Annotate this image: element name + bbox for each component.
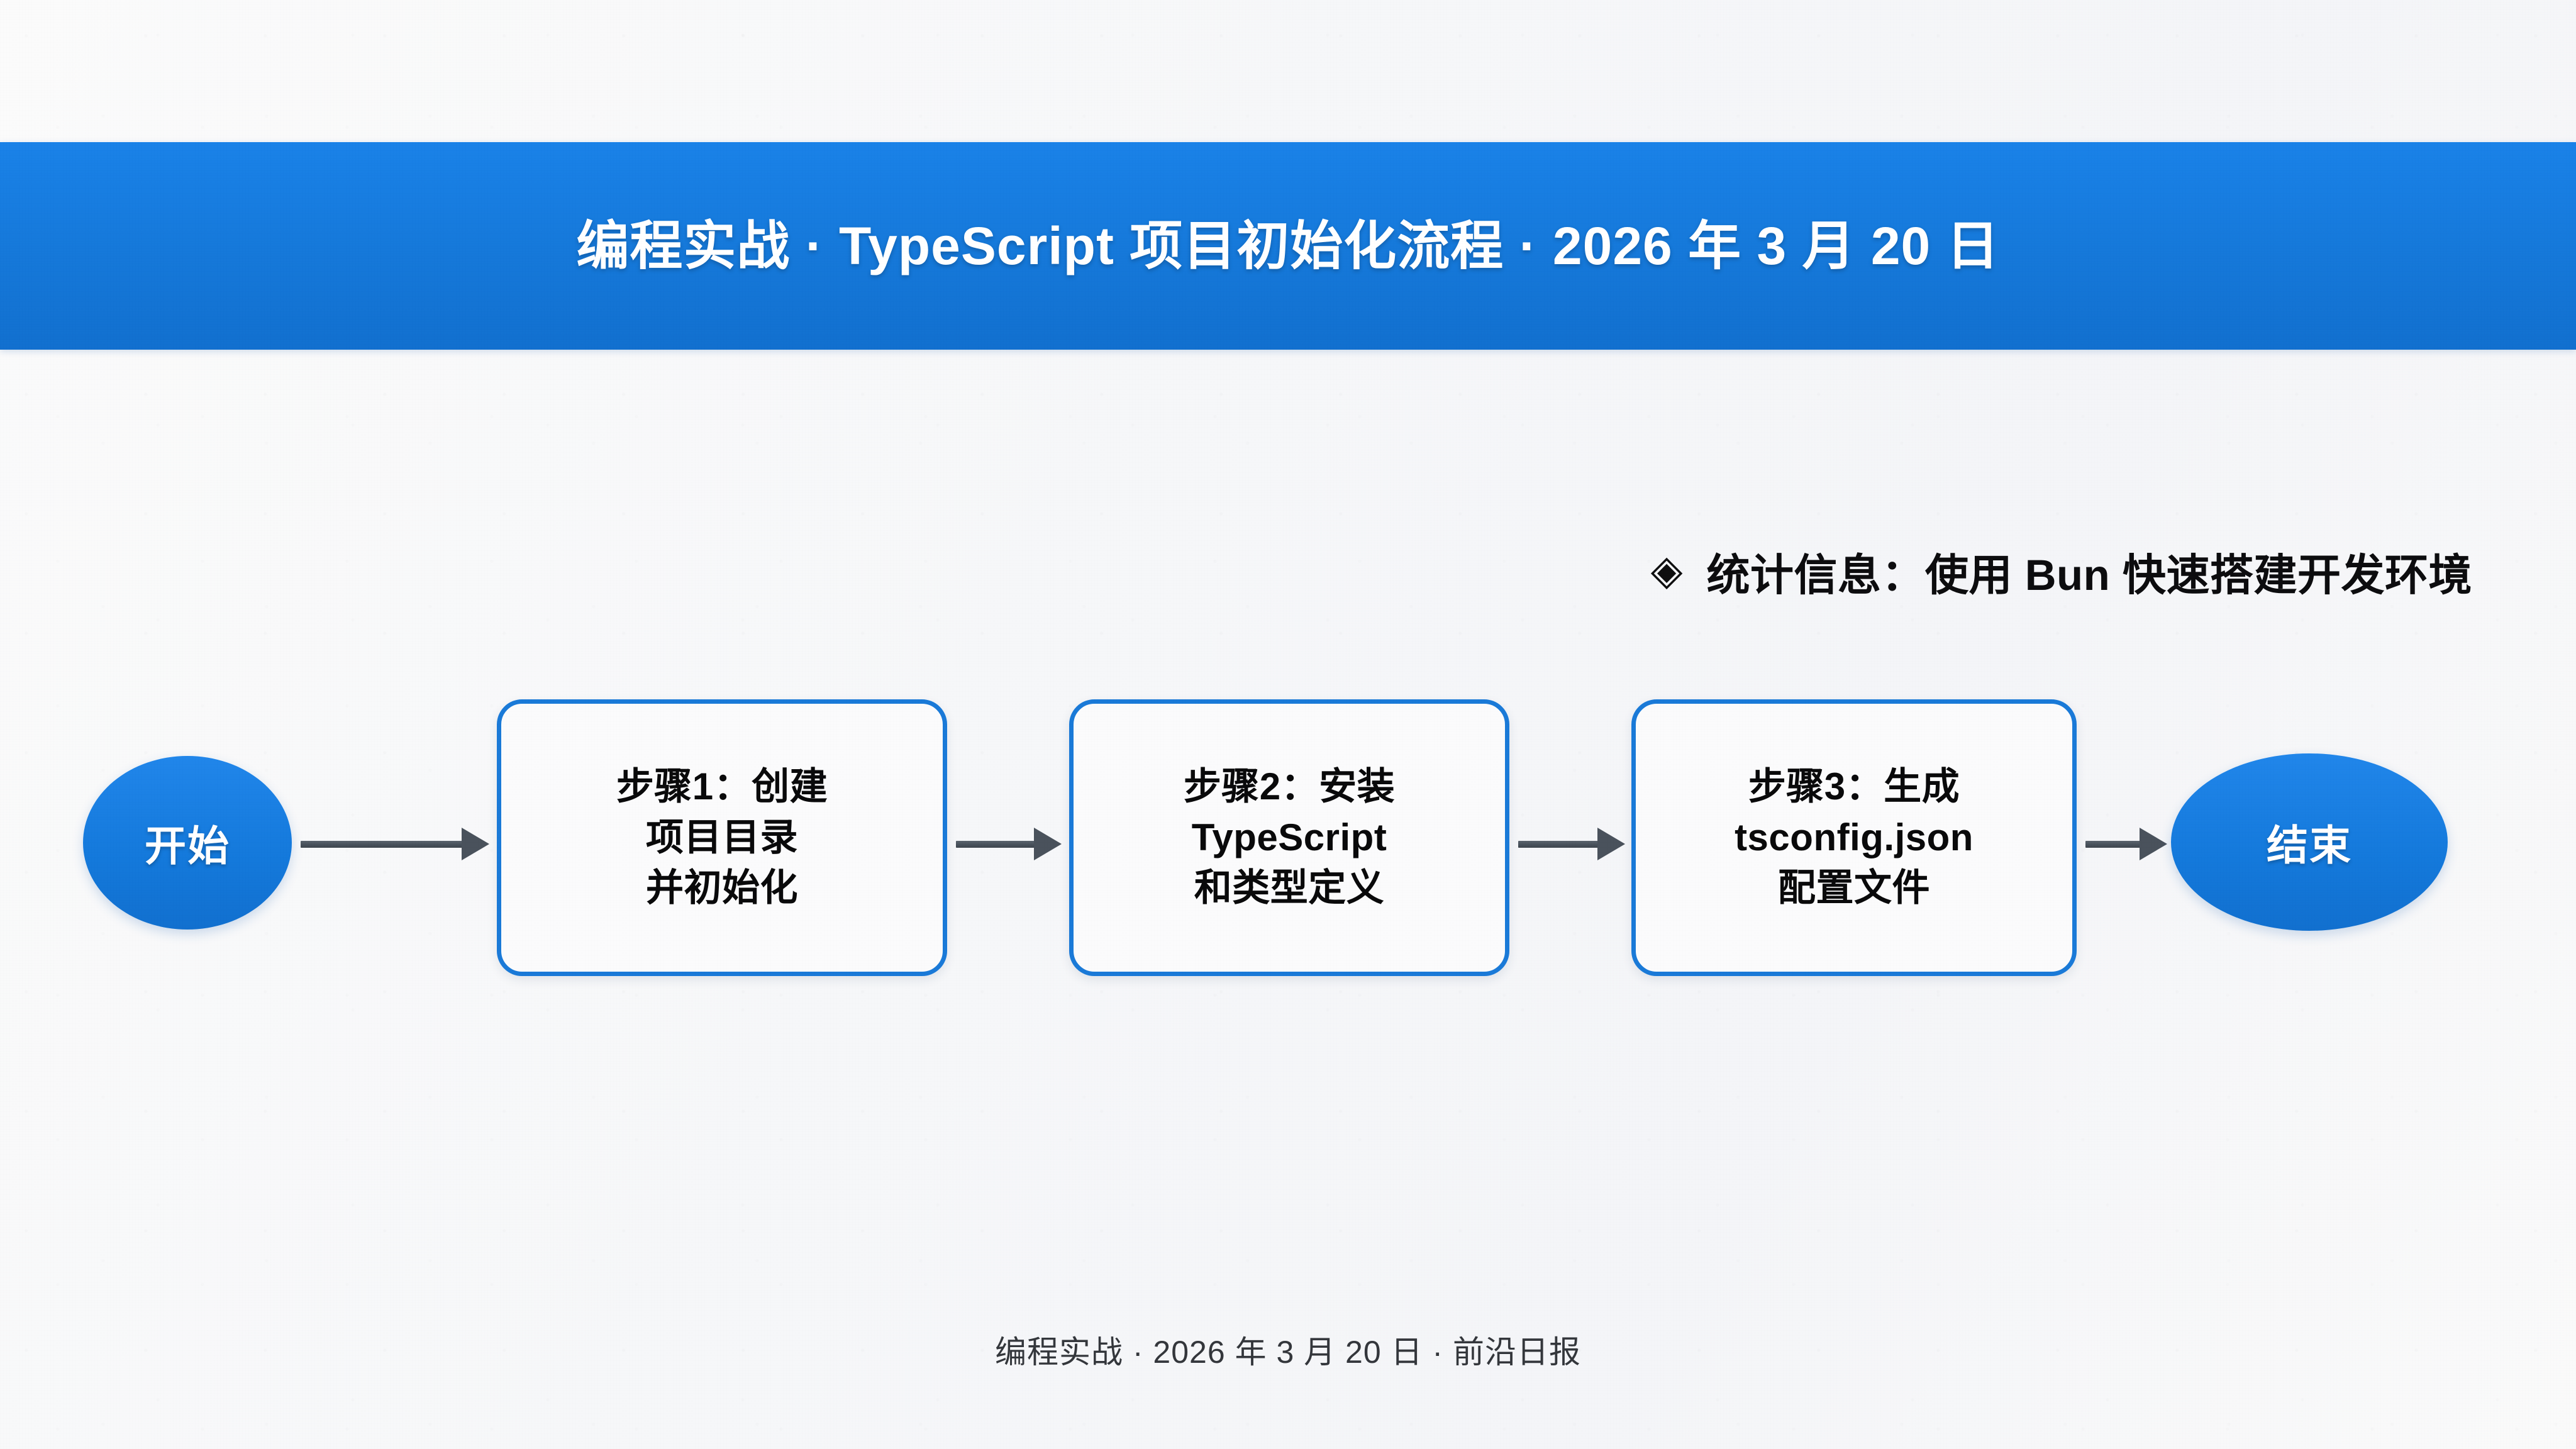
flow-node-start-label: 开始 <box>145 813 230 873</box>
flow-arrow-start-to-step1 <box>301 831 489 857</box>
arrow-head-icon <box>1034 828 1062 860</box>
arrow-head-icon <box>1597 828 1625 860</box>
arrow-head-icon <box>462 828 489 860</box>
arrow-shaft <box>2085 841 2141 848</box>
page-title: 编程实战 · TypeScript 项目初始化流程 · 2026 年 3 月 2… <box>576 217 1999 275</box>
flow-node-start[interactable]: 开始 <box>83 756 292 930</box>
flow-node-step3[interactable]: 步骤3：生成 tsconfig.json 配置文件 <box>1631 699 2077 976</box>
flow-arrow-step1-to-step2 <box>956 831 1062 857</box>
flow-node-step1[interactable]: 步骤1：创建 项目目录 并初始化 <box>497 699 947 976</box>
header-banner: 编程实战 · TypeScript 项目初始化流程 · 2026 年 3 月 2… <box>0 142 2576 350</box>
flow-node-step1-label: 步骤1：创建 项目目录 并初始化 <box>616 762 828 913</box>
flow-node-step3-label: 步骤3：生成 tsconfig.json 配置文件 <box>1735 762 1974 913</box>
flow-arrow-step2-to-step3 <box>1518 831 1625 857</box>
arrow-head-icon <box>2140 828 2167 860</box>
statistics-caption: ◈ 统计信息：使用 Bun 快速搭建开发环境 <box>1651 540 2472 602</box>
arrow-shaft <box>1518 841 1599 848</box>
arrow-shaft <box>301 841 463 848</box>
statistics-text: 统计信息：使用 Bun 快速搭建开发环境 <box>1707 540 2472 602</box>
diamond-bullet-icon: ◈ <box>1651 549 1683 591</box>
flow-node-step2[interactable]: 步骤2：安装 TypeScript 和类型定义 <box>1069 699 1509 976</box>
flow-node-end-label: 结束 <box>2267 812 2352 872</box>
flow-node-end[interactable]: 结束 <box>2171 753 2448 931</box>
footer-caption: 编程实战 · 2026 年 3 月 20 日 · 前沿日报 <box>0 1327 2576 1372</box>
slide-canvas: 编程实战 · TypeScript 项目初始化流程 · 2026 年 3 月 2… <box>0 0 2576 1449</box>
flow-arrow-step3-to-end <box>2085 831 2167 857</box>
arrow-shaft <box>956 841 1035 848</box>
flowchart: 开始 步骤1：创建 项目目录 并初始化 步骤2：安装 TypeScript 和类… <box>0 686 2576 1000</box>
flow-node-step2-label: 步骤2：安装 TypeScript 和类型定义 <box>1184 762 1395 913</box>
